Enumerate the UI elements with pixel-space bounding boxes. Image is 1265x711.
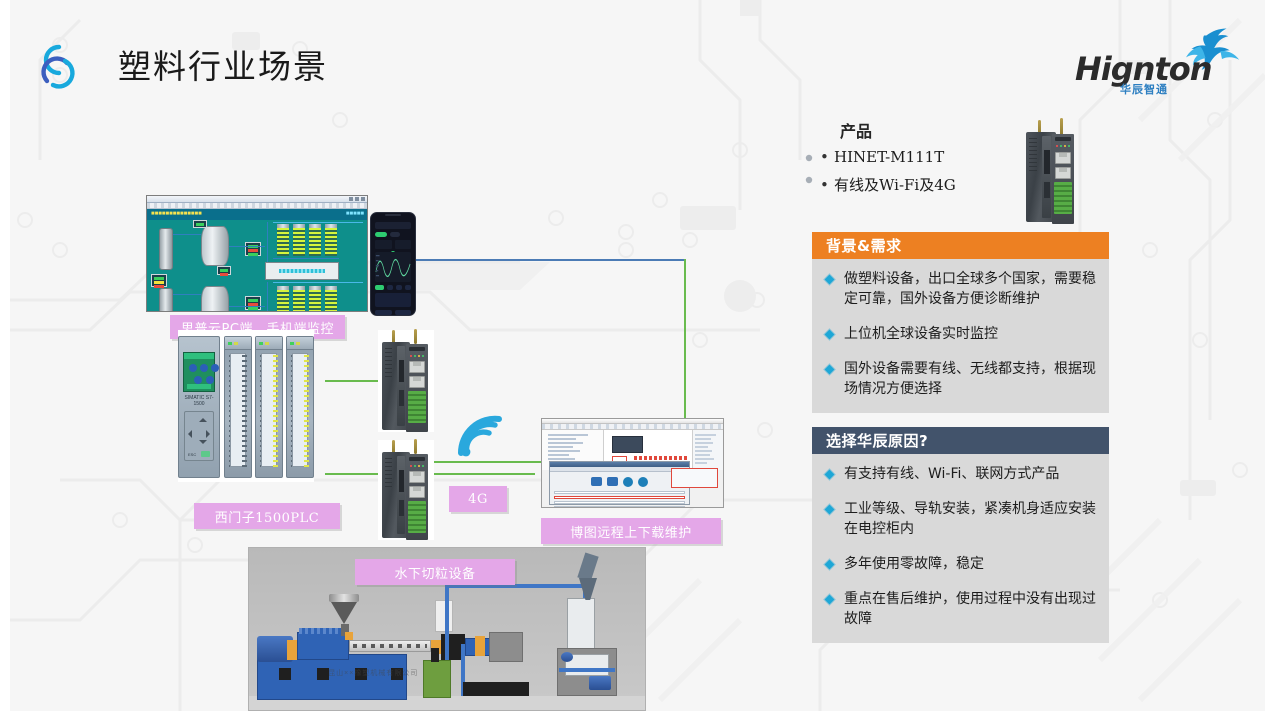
bullet-label: 国外设备需要有线、无线都支持，根据现场情况方便选择 [844,359,1097,399]
plc-cpu-module: SIMATIC S7-1500 ESC [178,336,220,478]
plc-io-module [286,336,314,478]
app-toggle-row [375,232,411,237]
list-item: 做塑料设备，出口全球多个国家，需要稳定可靠，国外设备方便诊断维护 [824,269,1097,309]
chip[interactable] [405,285,411,290]
tia-device-view [612,436,642,454]
panel-body-requirements: 做塑料设备，出口全球多个国家，需要稳定可靠，国外设备方便诊断维护 上位机全球设备… [812,259,1109,413]
plc-ok-key[interactable] [201,451,210,457]
siemens-simatic-s7-1500-plc-photo: SIMATIC S7-1500 ESC [178,330,314,482]
list-item: 上位机全球设备实时监控 [824,324,1097,344]
metric-value [395,240,412,249]
panel-header-reasons: 选择华辰原因? [812,427,1109,454]
pc-icon [591,477,602,486]
bullet-label: 重点在售后维护，使用过程中没有出现过故障 [844,589,1097,629]
diamond-bullet-icon [824,504,844,516]
app-trend-chart [375,252,411,282]
circle-icon [638,477,648,487]
app-summary-card [375,293,411,307]
plc-display [183,352,215,392]
connector-plc-to-gateway-bottom [325,473,385,475]
bullet-dot-icon: • [820,148,834,166]
wifi-signal-icon [455,415,503,457]
list-item: 多年使用零故障，稳定 [824,554,1097,574]
circle-icon [623,477,633,487]
panel-header-requirements: 背景&需求 [812,232,1109,259]
dialog-fields[interactable] [554,491,685,508]
panel-body-reasons: 有支持有线、Wi-Fi、联网方式产品 工业等级、导轨安装，紧凑机身适应安装在电控… [812,454,1109,643]
app-chip-row [375,285,411,290]
hinet-gateway-4g-photo [378,440,434,540]
bullet-label: 工业等级、导轨安装，紧凑机身适应安装在电控柜内 [844,499,1097,539]
slide-canvas: 塑料行业场景 Hignton 华辰智通 产品 •HINET-M111T •有线及… [0,0,1265,711]
bullet-label: 做塑料设备，出口全球多个国家，需要稳定可靠，国外设备方便诊断维护 [844,269,1097,309]
product-item-connectivity: •有线及Wi-Fi及4G [820,174,956,195]
connector-plc-to-gateway-top [325,380,385,382]
plc-esc-key-label: ESC [188,452,196,457]
plc-io-module [224,336,252,478]
label-plc: 西门子1500PLC [194,503,340,529]
plc-keypad[interactable]: ESC [184,411,214,461]
app-metrics-row [375,240,411,249]
bullet-dot-icon: • [820,176,834,194]
tia-task-card[interactable] [692,430,723,470]
photo-watermark: 昆山××橡塑机械有限公司 [328,668,418,678]
product-title: 产品 [840,118,872,142]
app-action-button[interactable] [395,310,412,315]
label-4g: 4G [449,486,507,512]
tia-highlight-box-right [671,468,718,487]
hmi-process-canvas [147,220,367,311]
hignton-loop-icon [33,41,85,93]
product-item-model: •HINET-M111T [820,148,944,166]
chip-active[interactable] [375,285,384,290]
scada-hmi-process-screenshot: ■■■■■■■■■■■■■■■■■■■ [146,195,368,312]
phone-notch [385,214,401,216]
diamond-bullet-icon [824,469,844,481]
app-action-row [375,310,411,315]
diamond-bullet-icon [824,559,844,571]
list-item: 国外设备需要有线、无线都支持，根据现场情况方便选择 [824,359,1097,399]
dialog-tabs[interactable] [550,467,689,472]
diamond-bullet-icon [824,274,844,286]
page-title: 塑料行业场景 [118,40,328,88]
chip[interactable] [387,285,393,290]
product-item-label: 有线及Wi-Fi及4G [834,176,956,194]
mobile-monitoring-app-screenshot [370,212,416,316]
list-item: 有支持有线、Wi-Fi、联网方式产品 [824,464,1097,484]
dialog-field-highlighted[interactable] [554,496,685,499]
hinet-m111t-gateway-photo [1022,120,1080,224]
slide-header: 塑料行业场景 Hignton 华辰智通 [0,0,1265,110]
connector-phone-to-gateway [416,259,686,261]
label-tia-remote: 博图远程上下载维护 [541,518,721,544]
connector-gateway-bottom-4g [425,473,535,475]
panel-background-reasons: 选择华辰原因? 有支持有线、Wi-Fi、联网方式产品 工业等级、导轨安装，紧凑机… [812,427,1109,643]
hinet-gateway-wired-photo [378,330,434,432]
toggle-active[interactable] [375,232,387,237]
chip[interactable] [396,285,402,290]
pc-icon [607,477,618,486]
dialog-field[interactable] [554,506,685,508]
dialog-field[interactable] [554,501,685,504]
hmi-window-titlebar [147,196,367,203]
product-block: 产品 •HINET-M111T •有线及Wi-Fi及4G [812,118,1112,223]
product-item-label: HINET-M111T [834,148,944,166]
tia-portal-remote-download-screenshot [541,418,724,508]
tia-extended-download-dialog[interactable] [549,461,690,505]
hmi-screen-title: ■■■■■■■■■■■■■■■■■■■ [147,209,367,220]
toggle-inactive[interactable] [390,232,400,237]
list-item: 工业等级、导轨安装，紧凑机身适应安装在电控柜内 [824,499,1097,539]
diamond-bullet-icon [824,594,844,606]
bullet-label: 上位机全球设备实时监控 [844,324,998,344]
brand-subtitle: 华辰智通 [1120,81,1168,97]
bullet-label: 有支持有线、Wi-Fi、联网方式产品 [844,464,1059,484]
app-title-bar [375,222,411,229]
metric-value [375,240,392,249]
label-pelletizer: 水下切粒设备 [355,559,515,585]
diamond-bullet-icon [824,364,844,376]
dialog-field[interactable] [554,491,685,494]
list-item: 重点在售后维护，使用过程中没有出现过故障 [824,589,1097,629]
panel-background-requirements: 背景&需求 做塑料设备，出口全球多个国家，需要稳定可靠，国外设备方便诊断维护 上… [812,232,1109,413]
app-action-button[interactable] [375,310,392,315]
plc-io-module [255,336,283,478]
brand-logo: Hignton 华辰智通 [1075,26,1243,96]
plc-model-label: SIMATIC S7-1500 [179,395,219,407]
bullet-label: 多年使用零故障，稳定 [844,554,984,574]
dialog-interface-icons [550,477,689,487]
diamond-bullet-icon [824,329,844,341]
tia-annotation-text [634,456,689,460]
